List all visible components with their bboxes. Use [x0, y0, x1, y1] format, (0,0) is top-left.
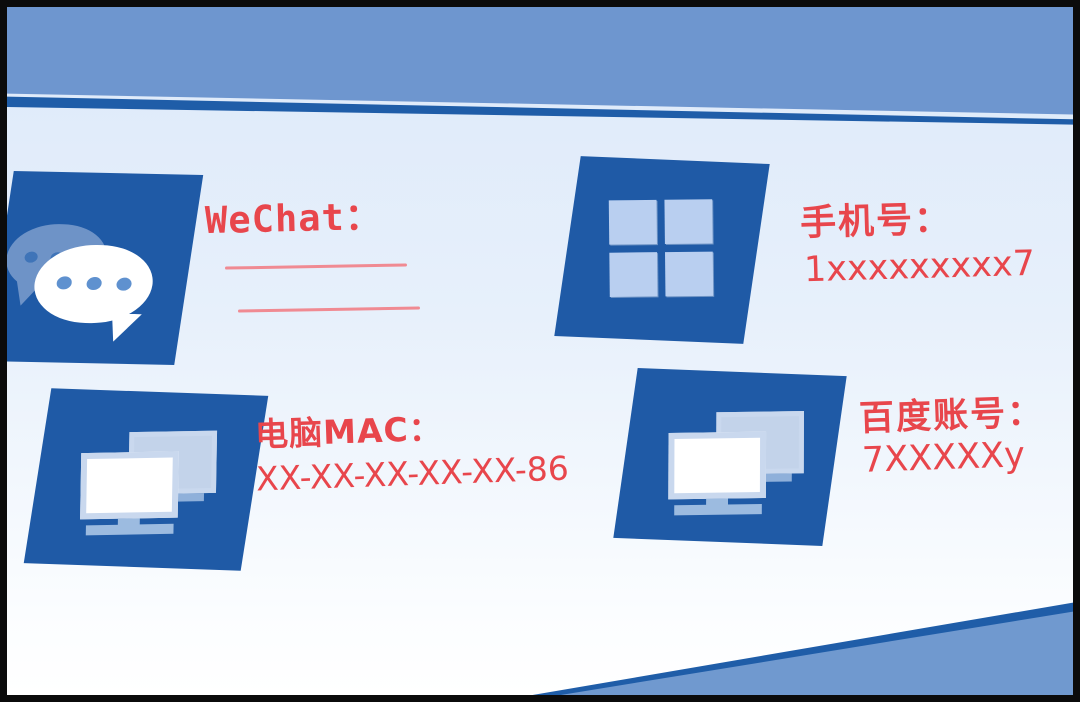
windows-pane [665, 252, 713, 297]
chat-bubbles-icon [7, 171, 203, 365]
bubble-dot [86, 277, 103, 290]
baidu-value: 7XXXXXy [861, 435, 1025, 481]
slide-image: WeChat： 手机号： 1xxxxxxxxx7 [0, 0, 1080, 702]
mac-value: XX-XX-XX-XX-XX-86 [255, 449, 569, 499]
dual-monitor-icon [613, 368, 846, 546]
windows-pane [609, 252, 657, 297]
bubble-dot [56, 276, 73, 289]
windows-pane [609, 200, 657, 245]
monitor-front-stand [86, 524, 174, 536]
monitor-front-stand [674, 504, 762, 515]
monitor-front-screen [668, 432, 766, 500]
bubble-dot [116, 278, 133, 291]
dual-monitor-icon [24, 388, 269, 571]
monitor-group [72, 427, 223, 540]
mac-label: 电脑MAC： [254, 402, 443, 457]
bubble-dot [24, 252, 39, 263]
monitor-group [660, 407, 810, 520]
slide-canvas: WeChat： 手机号： 1xxxxxxxxx7 [7, 7, 1073, 695]
wechat-blank-line-2 [238, 306, 420, 312]
monitor-front-screen [80, 451, 179, 519]
baidu-label: 百度账号： [858, 384, 1045, 441]
wechat-label: WeChat： [204, 186, 383, 244]
top-decorative-band [7, 7, 1073, 115]
phone-label: 手机号： [799, 190, 952, 246]
windows-logo-icon [554, 156, 769, 344]
windows-panes [609, 199, 719, 301]
windows-pane [664, 199, 712, 244]
phone-value: 1xxxxxxxxx7 [803, 244, 1035, 290]
wechat-blank-line-1 [225, 263, 407, 269]
